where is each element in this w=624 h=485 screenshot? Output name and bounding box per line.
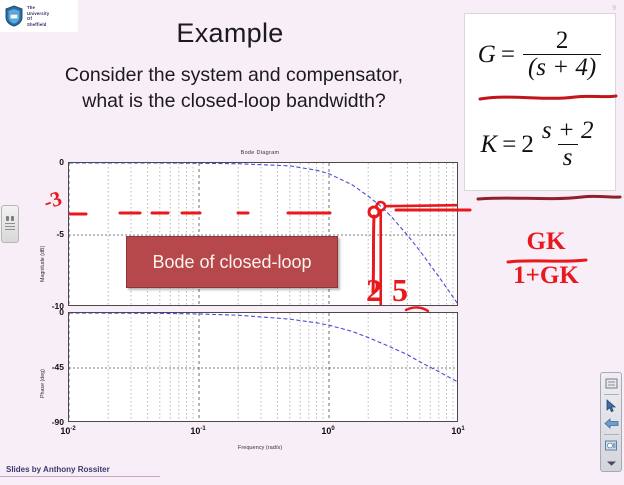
ink-fraction-bar [508,260,586,262]
phase-axis-label: Phase (deg) [40,369,46,398]
subtitle-line-1: Consider the system and compensator, [8,62,460,88]
page-number: 9 [612,5,616,12]
plant-denominator: (s + 4) [523,54,601,81]
toolbar-divider [604,394,619,395]
plant-equals: = [501,41,515,69]
subtitle-line-2: what is the closed-loop bandwidth? [8,88,460,114]
phase-ytick-0: 0 [30,307,64,317]
compensator-gain: 2 [521,131,534,159]
compensator-denominator: s [558,144,578,171]
slide-subtitle: Consider the system and compensator, wha… [8,62,460,114]
grip-dots-icon [6,216,14,221]
annotation-toolbar[interactable] [600,372,622,472]
ink-bar-top [478,196,620,199]
xtick-4: 101 [451,426,464,436]
plant-equation: G = 2 (s + 4) [471,28,611,82]
ink-gk-numerator: GK [506,228,586,256]
compensator-fraction: s + 2 s [537,118,599,172]
footer-divider [0,476,160,477]
magnitude-axis-label: Magnitude (dB) [40,246,46,282]
footer-credit: Slides by Anthony Rossiter [6,465,110,474]
magnitude-ytick-m5: -5 [30,229,64,239]
compensator-equation: K = 2 s + 2 s [471,118,611,172]
phase-plot [68,312,458,422]
xtick-3: 100 [321,426,334,436]
stamp-icon[interactable] [603,438,619,453]
settings-icon[interactable] [603,376,619,391]
callout-bode-closed-loop: Bode of closed-loop [126,236,338,288]
magnitude-ytick-0: 0 [30,157,64,167]
chevron-down-icon[interactable] [603,456,619,471]
plant-lhs: G [478,41,496,69]
bode-diagram: Bode Diagram Magnitude (dB) 0 -5 -10 Pha… [30,150,490,455]
xtick-2: 10-1 [190,426,205,436]
slide-drag-handle[interactable] [1,205,19,243]
frequency-axis-label: Frequency (rad/s) [30,445,490,451]
plant-fraction: 2 (s + 4) [523,28,601,82]
compensator-numerator: s + 2 [537,118,599,144]
plant-numerator: 2 [551,28,574,54]
phase-ytick-m90: -90 [30,417,64,427]
grip-lines-icon [5,223,15,232]
page-title: Example [0,18,460,49]
phase-curve [69,313,458,422]
phase-ytick-m45: -45 [30,362,64,372]
xtick-1: 10-2 [60,426,75,436]
ink-gk-denominator: 1+GK [498,262,594,290]
chart-title: Bode Diagram [30,150,490,156]
arrow-left-icon[interactable] [603,416,619,431]
toolbar-divider-2 [604,434,619,435]
compensator-equals: = [502,131,516,159]
pointer-icon[interactable] [603,398,619,413]
slide-canvas: The University Of Sheffield 9 Example Co… [0,0,624,480]
